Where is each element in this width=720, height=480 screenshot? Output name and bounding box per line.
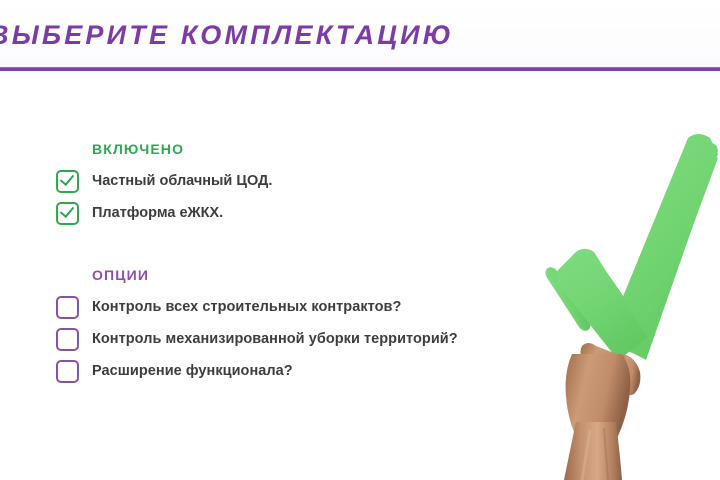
options-rows: Контроль всех строительных контрактов? К… (56, 292, 576, 386)
checkbox-unchecked-icon[interactable] (56, 360, 79, 383)
group-title-options: ОПЦИИ (92, 266, 576, 284)
list-item[interactable]: Платформа еЖКХ. (56, 198, 576, 228)
included-rows: Частный облачный ЦОД. Платформа еЖКХ. (56, 166, 576, 228)
list-item[interactable]: Частный облачный ЦОД. (56, 166, 576, 196)
group-options: ОПЦИИ Контроль всех строительных контрак… (56, 266, 576, 386)
checkbox-checked-icon[interactable] (56, 202, 79, 225)
check-tick-icon (59, 203, 73, 218)
checkbox-unchecked-icon[interactable] (56, 328, 79, 351)
list-item-label: Контроль всех строительных контрактов? (92, 297, 401, 317)
page-title: ВЫБЕРИТЕ КОМПЛЕКТАЦИЮ (0, 16, 720, 54)
header-divider (0, 67, 720, 71)
list-item[interactable]: Контроль механизированной уборки террито… (56, 324, 576, 354)
list-item[interactable]: Расширение функционала? (56, 356, 576, 386)
checkbox-unchecked-icon[interactable] (56, 296, 79, 319)
group-included: ВКЛЮЧЕНО Частный облачный ЦОД. Платформа… (56, 140, 576, 228)
configuration-checklist: ВКЛЮЧЕНО Частный облачный ЦОД. Платформа… (56, 140, 576, 386)
list-item-label: Платформа еЖКХ. (92, 203, 223, 223)
list-item-label: Контроль механизированной уборки террито… (92, 329, 458, 349)
hand-checkmark-illustration (520, 110, 720, 480)
check-tick-icon (59, 171, 73, 186)
forearm-shape (564, 422, 622, 480)
list-item-label: Частный облачный ЦОД. (92, 171, 272, 191)
group-title-included: ВКЛЮЧЕНО (92, 140, 576, 158)
slide-header: ВЫБЕРИТЕ КОМПЛЕКТАЦИЮ (0, 0, 720, 71)
green-checkmark-prop (543, 134, 720, 360)
list-item[interactable]: Контроль всех строительных контрактов? (56, 292, 576, 322)
slide-root: ВЫБЕРИТЕ КОМПЛЕКТАЦИЮ ВКЛЮЧЕНО Частный о… (0, 0, 720, 480)
list-item-label: Расширение функционала? (92, 361, 293, 381)
hand-holding-checkmark-image (520, 110, 720, 480)
checkbox-checked-icon[interactable] (56, 170, 79, 193)
